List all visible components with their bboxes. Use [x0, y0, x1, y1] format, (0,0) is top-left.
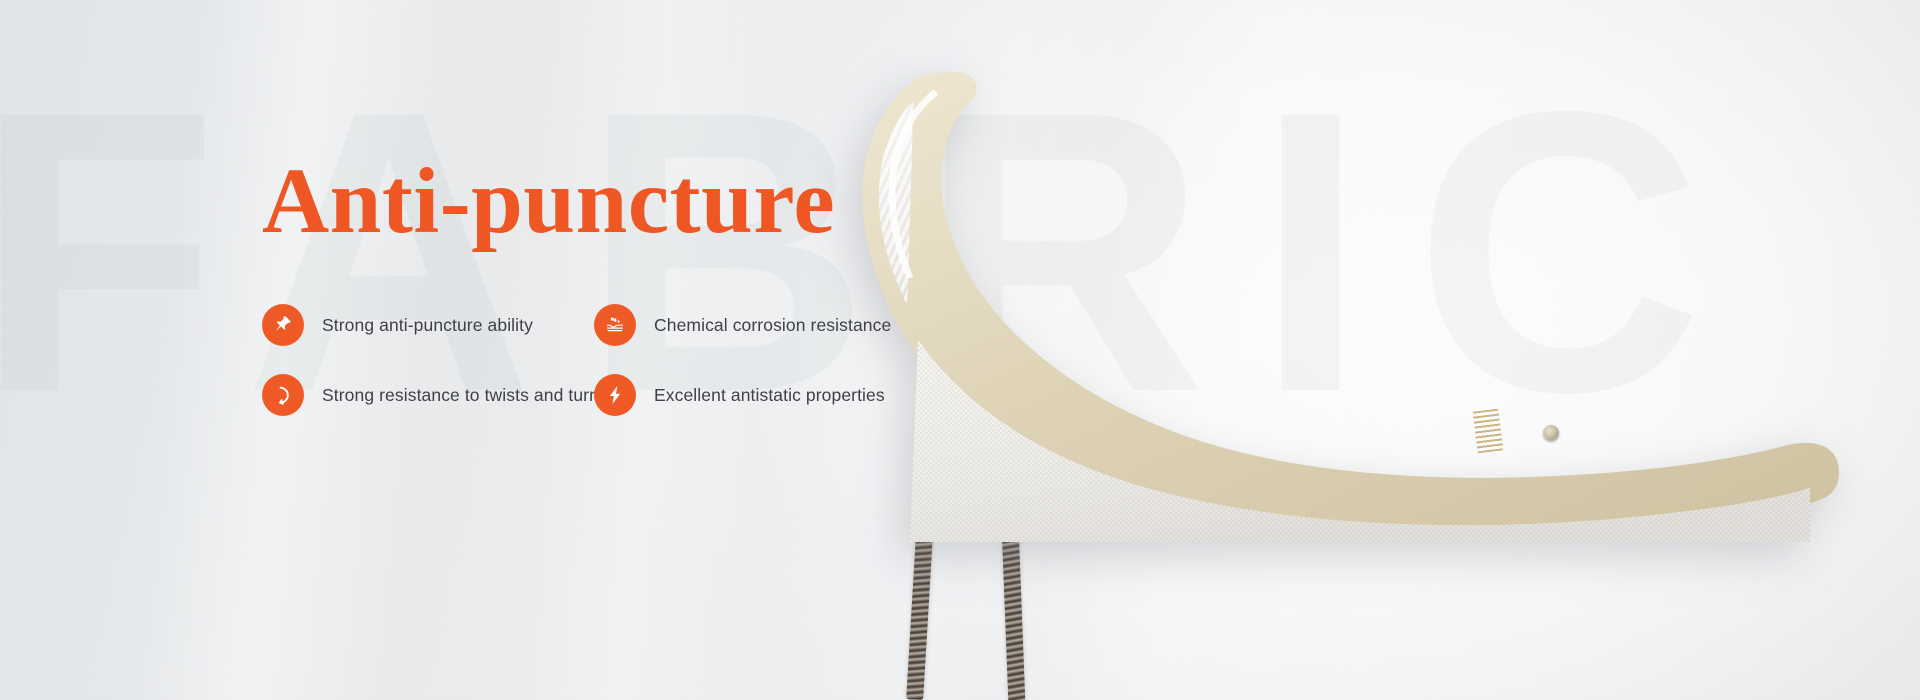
rotate-arrow-icon: [262, 374, 304, 416]
nail-icon: [996, 372, 1026, 700]
page-title: Anti-puncture: [262, 150, 902, 254]
insole-composite: [830, 0, 1920, 700]
feature-label: Excellent antistatic properties: [654, 385, 885, 406]
insole-surface: [879, 88, 1810, 542]
insole-binding-edge: [862, 72, 1839, 541]
feature-item-chemical-resistance: Chemical corrosion resistance: [594, 304, 926, 346]
eyelet-hole-icon: [1543, 425, 1559, 441]
product-image: [830, 0, 1920, 700]
feature-label: Chemical corrosion resistance: [654, 315, 891, 336]
feature-item-twist-resistance: Strong resistance to twists and turns: [262, 374, 594, 416]
nail-icon: [906, 300, 947, 700]
feature-list: Strong anti-puncture ability Chemical co…: [262, 290, 902, 430]
banner-content: Anti-puncture Strong anti-puncture abili…: [262, 150, 902, 430]
woven-insole-shape: [840, 72, 1840, 542]
pushpin-icon: [262, 304, 304, 346]
brand-marking: [1473, 409, 1504, 454]
feature-label: Strong resistance to twists and turns: [322, 385, 608, 406]
droplet-surface-icon: [594, 304, 636, 346]
feature-label: Strong anti-puncture ability: [322, 315, 533, 336]
feature-item-anti-puncture: Strong anti-puncture ability: [262, 304, 594, 346]
lightning-bolt-icon: [594, 374, 636, 416]
feature-item-antistatic: Excellent antistatic properties: [594, 374, 926, 416]
anti-puncture-banner: FABRIC: [0, 0, 1920, 700]
